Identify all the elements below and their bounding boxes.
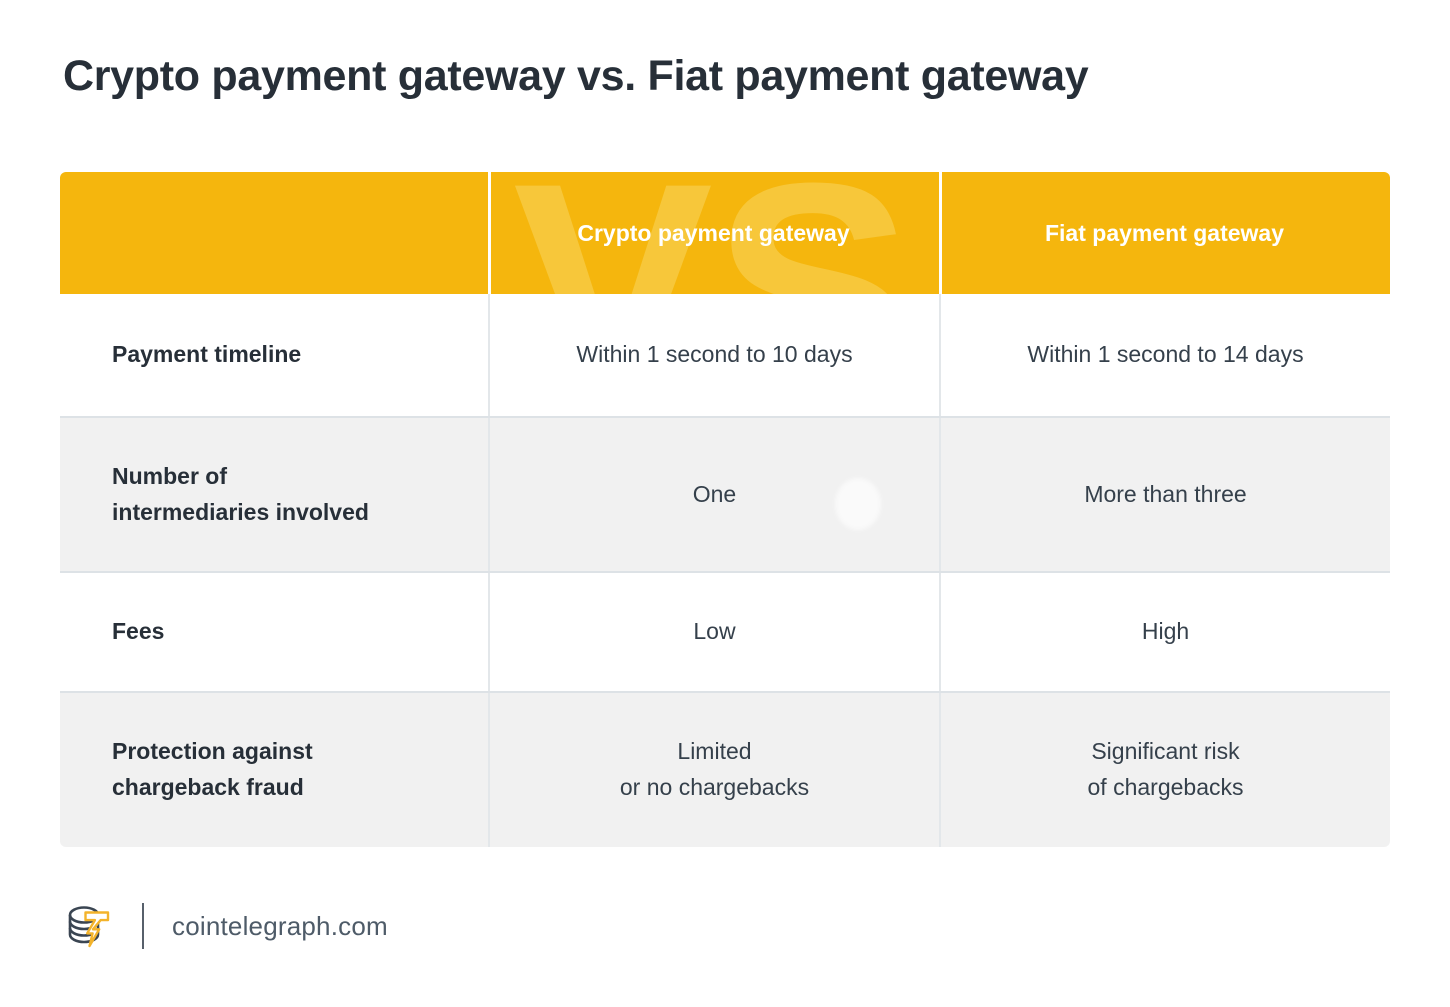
comparison-table: VS Crypto payment gateway Fiat payment g… (60, 172, 1390, 847)
footer: cointelegraph.com (62, 895, 388, 957)
table-header-fiat: Fiat payment gateway (939, 172, 1390, 294)
row-label: Fees (60, 573, 488, 691)
row-label: Payment timeline (60, 294, 488, 416)
footer-url: cointelegraph.com (172, 911, 388, 942)
table-header-crypto: Crypto payment gateway (488, 172, 939, 294)
cell-fiat: Significant riskof chargebacks (939, 693, 1390, 847)
table-body: Payment timeline Within 1 second to 10 d… (60, 294, 1390, 847)
table-row: Number ofintermediaries involved One Mor… (60, 416, 1390, 571)
cell-crypto: One (488, 418, 939, 571)
table-row: Fees Low High (60, 571, 1390, 691)
table-row: Protection againstchargeback fraud Limit… (60, 691, 1390, 847)
cointelegraph-logo-icon (62, 899, 116, 953)
cell-fiat: More than three (939, 418, 1390, 571)
cell-crypto: Limitedor no chargebacks (488, 693, 939, 847)
cell-crypto: Low (488, 573, 939, 691)
row-label: Protection againstchargeback fraud (60, 693, 488, 847)
page-title: Crypto payment gateway vs. Fiat payment … (63, 52, 1088, 101)
cell-fiat: High (939, 573, 1390, 691)
table-header-row: VS Crypto payment gateway Fiat payment g… (60, 172, 1390, 294)
row-label: Number ofintermediaries involved (60, 418, 488, 571)
cell-fiat: Within 1 second to 14 days (939, 294, 1390, 416)
table-header-empty (60, 172, 488, 294)
footer-divider (142, 903, 144, 949)
comparison-table-wrapper: VS Crypto payment gateway Fiat payment g… (60, 172, 1390, 847)
cell-crypto: Within 1 second to 10 days (488, 294, 939, 416)
table-row: Payment timeline Within 1 second to 10 d… (60, 294, 1390, 416)
infographic-page: Crypto payment gateway vs. Fiat payment … (0, 0, 1450, 1007)
